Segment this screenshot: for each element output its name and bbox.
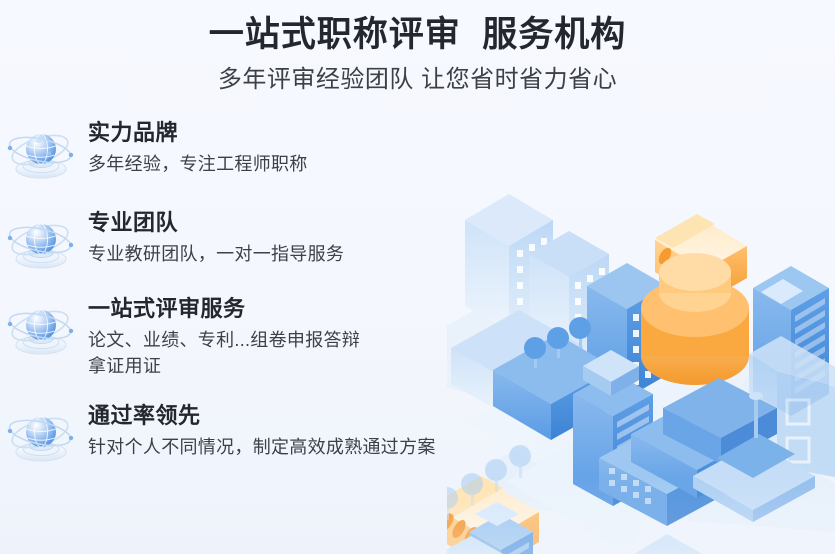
building-orange-market-top [655,214,747,302]
building-orange-market-bottom [447,476,539,554]
building-blue-block [493,334,615,440]
building-orange-cylinder [641,253,749,385]
building-orange-lowrise-row [533,534,731,554]
feature-title: 实力品牌 [88,118,470,148]
feature-desc: 针对个人不同情况，制定高效成熟通过方案 [88,434,470,460]
promo-banner: 一站式职称评审 服务机构 多年评审经验团队 让您省时省力省心 [0,0,835,554]
feature-item-1: 实力品牌 多年经验，专注工程师职称 [0,118,470,180]
feature-desc-line1: 针对个人不同情况，制定高效成熟通过方案 [88,437,436,457]
city-trees-right [524,317,591,368]
globe-orbit-icon [4,405,78,465]
building-faded-right [749,336,835,478]
globe-orbit-icon [4,298,78,358]
feature-desc: 专业教研团队，一对一指导服务 [88,241,470,267]
city-roads [447,256,835,554]
building-striped-small [469,502,533,554]
building-pale-tower-a [465,194,553,332]
feature-desc-line2: 拿证用证 [88,353,470,379]
feature-item-2: 专业团队 专业教研团队，一对一指导服务 [0,208,470,270]
feature-title: 一站式评审服务 [88,294,470,324]
globe-orbit-icon [4,122,78,182]
building-pale-tower-b [529,231,609,366]
building-cluster-blue [599,378,777,526]
header-block: 一站式职称评审 服务机构 多年评审经验团队 让您省时省力省心 [0,12,835,96]
building-blue-tower-right [753,266,829,416]
globe-orbit-icon [4,212,78,272]
feature-desc: 多年经验，专注工程师职称 [88,151,470,177]
plaza-slab-left [447,536,521,554]
feature-item-3: 一站式评审服务 论文、业绩、专利...组卷申报答辩 拿证用证 [0,294,470,379]
feature-desc-line1: 多年经验，专注工程师职称 [88,154,308,174]
feature-item-4: 通过率领先 针对个人不同情况，制定高效成熟通过方案 [0,401,470,463]
building-blue-tower-c [587,263,667,398]
feature-desc-line1: 论文、业绩、专利...组卷申报答辩 [88,330,360,350]
isometric-city-illustration [447,176,835,554]
feature-title: 通过率领先 [88,401,470,431]
feature-desc: 论文、业绩、专利...组卷申报答辩 拿证用证 [88,327,470,379]
building-plaza-right [693,392,815,522]
feature-desc-line1: 专业教研团队，一对一指导服务 [88,244,344,264]
building-pale-block [451,310,583,420]
feature-list: 实力品牌 多年经验，专注工程师职称 [0,118,470,485]
page-subtitle: 多年评审经验团队 让您省时省力省心 [0,64,835,96]
page-title: 一站式职称评审 服务机构 [0,12,835,58]
building-striped-tower [573,350,653,506]
feature-title: 专业团队 [88,208,470,238]
